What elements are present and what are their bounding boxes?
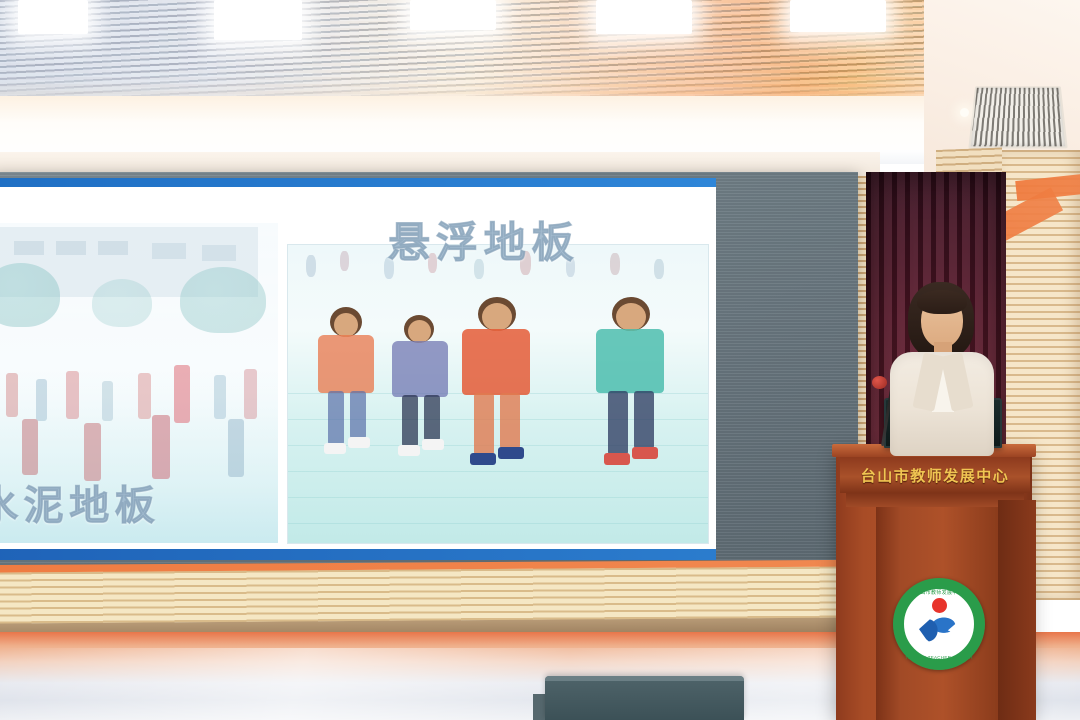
child-shoe — [398, 445, 420, 456]
child-jacket — [596, 329, 664, 393]
building-window — [152, 243, 186, 259]
child-shoe — [632, 447, 658, 459]
hall-scene: 悬浮地板 水泥地板 台山市教师发展中心 台山市教师发展中心 TAISHAN TE… — [0, 0, 1080, 720]
crowd-figure — [654, 259, 664, 279]
child-legs — [350, 391, 366, 439]
child-jacket — [392, 341, 448, 397]
podium-nameplate: 台山市教师发展中心 — [840, 457, 1030, 493]
child-legs — [402, 395, 418, 447]
child-legs — [328, 391, 344, 445]
tree — [180, 267, 266, 333]
crowd-figure — [340, 251, 349, 271]
crowd-figure — [306, 255, 316, 277]
emblem-arc-text-bottom: TAISHAN TEACHER CENTER — [893, 655, 985, 660]
panel-light — [18, 0, 88, 34]
panel-light — [596, 0, 692, 34]
child-legs — [634, 391, 654, 449]
crowd-figure — [174, 365, 190, 423]
child-shoe — [348, 437, 370, 448]
child-jacket — [318, 335, 374, 393]
child-figure — [386, 315, 458, 491]
child-legs — [474, 393, 494, 455]
crowd-figure — [36, 379, 47, 421]
podium-side-panel — [998, 500, 1036, 720]
child-figure — [310, 307, 382, 489]
slide-footer-bar — [0, 549, 716, 560]
crowd-figure — [66, 371, 79, 419]
emblem-arc-text-top: 台山市教师发展中心 — [893, 589, 985, 596]
podium-nameplate-text: 台山市教师发展中心 — [861, 465, 1010, 486]
crowd-figure — [6, 373, 18, 417]
crowd-figure — [138, 373, 151, 419]
building-window — [56, 241, 86, 255]
crowd-figure — [152, 415, 170, 479]
child-shoe — [498, 447, 524, 459]
child-legs — [424, 395, 440, 441]
downlight — [960, 108, 969, 117]
panel-light — [410, 0, 496, 30]
slide-body: 悬浮地板 水泥地板 — [0, 187, 716, 549]
child-face — [482, 303, 512, 331]
slide-title: 悬浮地板 — [388, 209, 580, 270]
presentation-slide: 悬浮地板 水泥地板 — [0, 178, 716, 560]
slide-left-caption: 水泥地板 — [0, 473, 160, 531]
child-shoe — [470, 453, 496, 465]
slide-header-bar — [0, 178, 716, 187]
building-window — [202, 245, 236, 261]
child-face — [408, 320, 431, 343]
child-shoe — [422, 439, 444, 450]
panel-light — [214, 0, 302, 40]
child-face — [334, 313, 358, 337]
child-figure — [588, 297, 674, 501]
child-jacket — [462, 329, 530, 395]
audience-chair-back — [545, 676, 744, 720]
suspended-floor-photo — [288, 245, 708, 543]
crowd-figure — [228, 419, 244, 477]
hvac-vent-grille — [968, 86, 1067, 148]
crowd-figure — [244, 369, 257, 419]
child-figure — [454, 297, 540, 497]
presenter-fringe — [917, 290, 967, 314]
tree — [92, 279, 152, 327]
child-face — [616, 303, 646, 331]
child-legs — [500, 393, 520, 449]
presenter — [878, 282, 1004, 452]
crowd-figure — [214, 375, 226, 419]
child-legs — [608, 391, 628, 455]
child-shoe — [324, 443, 346, 454]
teacher-development-center-emblem: 台山市教师发展中心 TAISHAN TEACHER CENTER — [893, 578, 985, 670]
crowd-figure — [22, 419, 38, 475]
crowd-figure — [102, 381, 113, 421]
child-shoe — [604, 453, 630, 465]
building-window — [14, 241, 44, 255]
panel-light — [790, 0, 886, 32]
crowd-figure — [610, 253, 620, 275]
chair-back-top-edge — [545, 676, 744, 681]
ceiling-warm-gradient — [0, 0, 1080, 108]
building-window — [98, 241, 128, 255]
